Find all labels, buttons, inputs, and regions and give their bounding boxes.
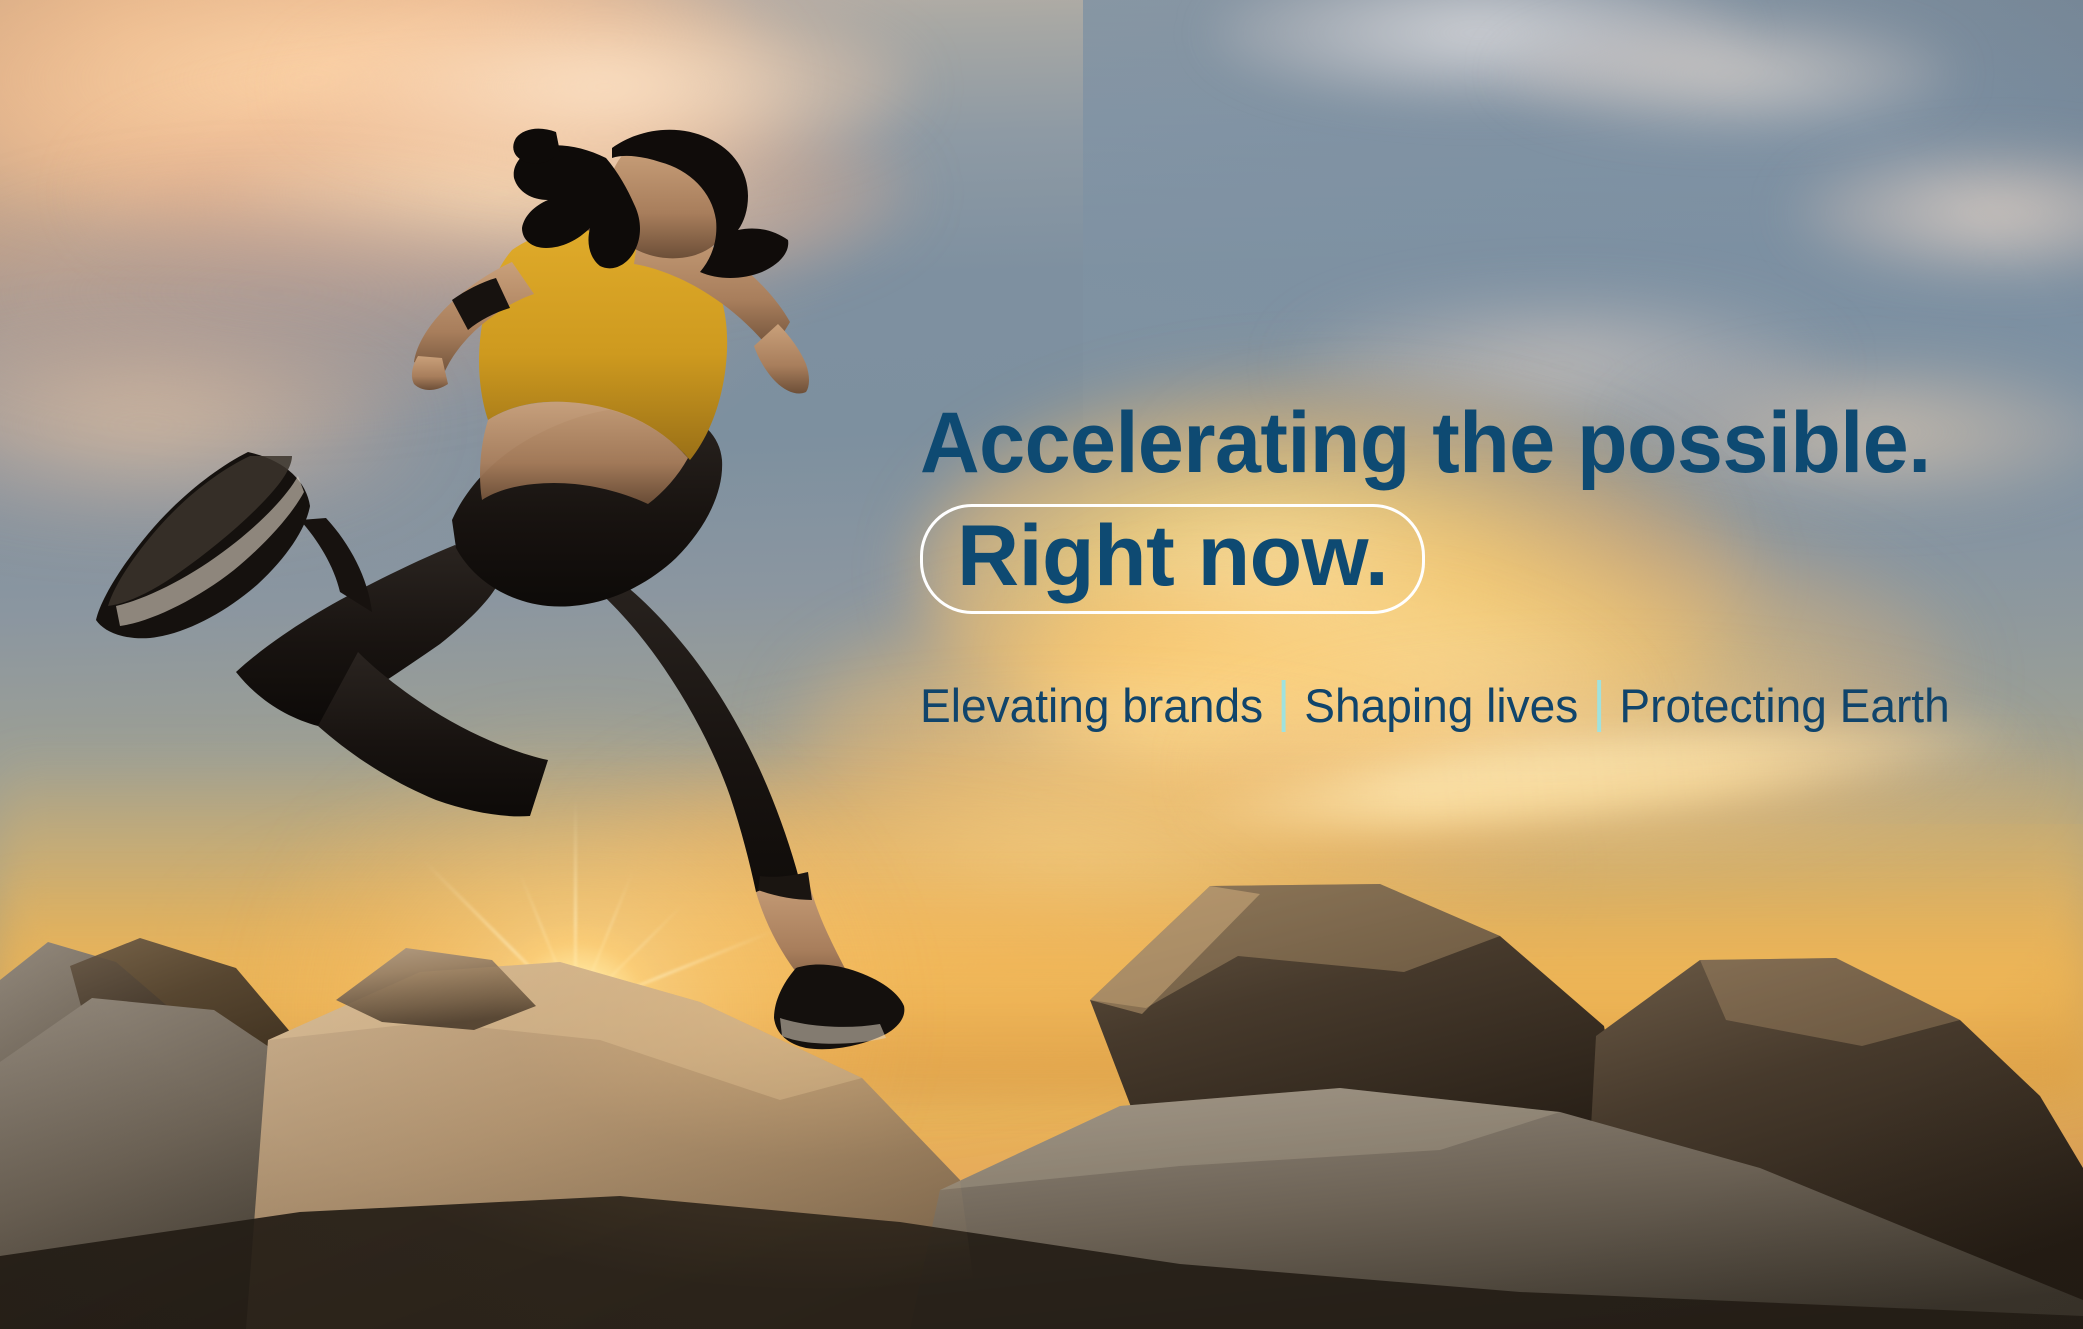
tagline-separator-icon xyxy=(1282,680,1286,732)
tagline-separator-icon xyxy=(1597,680,1601,732)
tagline-item-protecting-earth: Protecting Earth xyxy=(1619,680,1949,732)
headline-line-2: Right now. xyxy=(957,508,1388,604)
headline-pill-row: Right now. xyxy=(920,504,2000,614)
tagline-item-shaping-lives: Shaping lives xyxy=(1304,680,1578,732)
headline-pill: Right now. xyxy=(920,504,1425,614)
hero-banner: Accelerating the possible. Right now. El… xyxy=(0,0,2083,1329)
tagline: Elevating brands Shaping lives Protectin… xyxy=(920,680,1978,732)
headline-line-1: Accelerating the possible. xyxy=(920,400,1957,486)
rock-rim-glow xyxy=(246,962,980,1329)
hero-copy: Accelerating the possible. Right now. El… xyxy=(920,400,2000,732)
tagline-item-elevating-brands: Elevating brands xyxy=(920,680,1263,732)
